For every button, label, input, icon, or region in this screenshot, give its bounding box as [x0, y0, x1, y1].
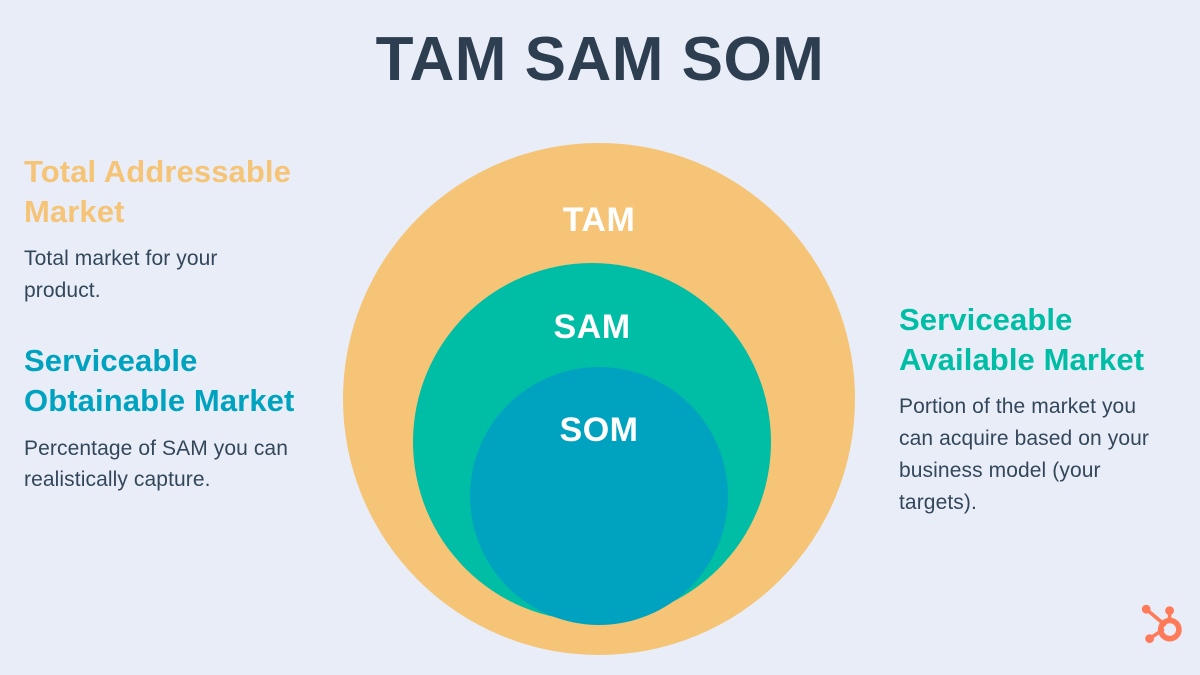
hubspot-sprocket-icon — [1141, 601, 1187, 647]
definition-heading-som: Serviceable Obtainable Market — [24, 341, 299, 420]
infographic-canvas: TAM SAM SOM Total Addressable Market Tot… — [0, 0, 1200, 675]
page-title: TAM SAM SOM — [0, 26, 1200, 94]
definition-body-sam: Portion of the market you can acquire ba… — [899, 391, 1174, 519]
circle-label-sam: SAM — [413, 308, 771, 347]
tam-sam-som-diagram: TAM SAM SOM — [343, 143, 855, 655]
definition-block-tam: Total Addressable Market Total market fo… — [24, 152, 299, 307]
circle-label-som: SOM — [470, 411, 728, 450]
definition-block-som: Serviceable Obtainable Market Percentage… — [24, 341, 299, 496]
left-text-column: Total Addressable Market Total market fo… — [24, 152, 299, 496]
right-text-column: Serviceable Available Market Portion of … — [899, 300, 1174, 519]
definition-body-som: Percentage of SAM you can realistically … — [24, 433, 299, 497]
definition-heading-sam: Serviceable Available Market — [899, 300, 1174, 379]
definition-heading-tam: Total Addressable Market — [24, 152, 299, 231]
circle-label-tam: TAM — [343, 201, 855, 240]
circle-som: SOM — [470, 367, 728, 625]
definition-body-tam: Total market for your product. — [24, 243, 299, 307]
definition-block-sam: Serviceable Available Market Portion of … — [899, 300, 1174, 519]
